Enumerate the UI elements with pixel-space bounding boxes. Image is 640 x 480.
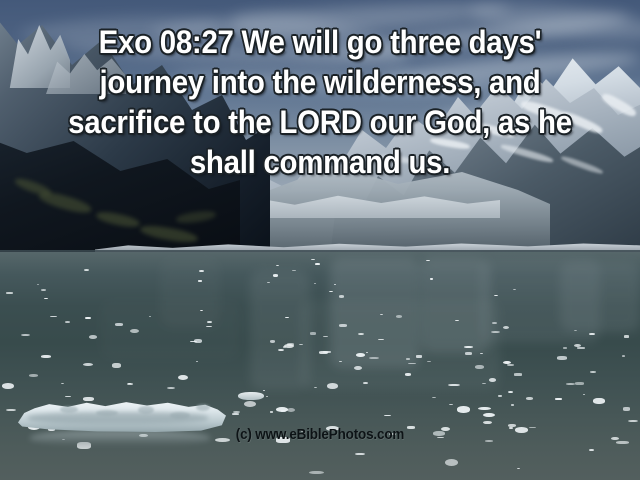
ice-chip <box>199 270 204 272</box>
ice-chip <box>489 378 496 381</box>
ice-chip <box>408 363 415 365</box>
ice-chip <box>406 358 411 360</box>
ice-chip <box>555 398 562 400</box>
watermark-label: (c) www.eBiblePhotos.com <box>32 426 608 443</box>
ice-chip <box>526 397 533 400</box>
ice-chip <box>511 404 515 406</box>
ice-chip <box>285 317 289 318</box>
ice-chip <box>315 263 320 265</box>
ice-chip <box>270 411 273 412</box>
ice-chip <box>339 324 346 327</box>
ice-chip <box>356 353 365 357</box>
ice-chip <box>445 459 459 466</box>
ice-chip <box>281 410 286 411</box>
ice-chip <box>314 387 317 388</box>
ice-chip <box>498 395 502 397</box>
ice-chip <box>287 408 295 412</box>
ice-chip <box>457 406 470 413</box>
ice-chip <box>327 383 338 389</box>
ice-chip <box>557 356 567 359</box>
ice-chip <box>233 411 239 413</box>
ice-chip <box>198 280 202 281</box>
ice-chip <box>563 347 567 349</box>
ice-chip <box>339 295 344 297</box>
ice-chip <box>430 278 433 280</box>
ice-chip <box>574 330 577 331</box>
ice-chip <box>593 398 604 404</box>
iceberg-pit <box>196 404 210 411</box>
water-reflection <box>300 300 500 390</box>
ice-chip <box>513 289 516 290</box>
ice-chip <box>623 407 630 411</box>
ice-chip <box>112 363 121 368</box>
iceberg-pit <box>138 406 154 414</box>
ice-chip <box>232 413 239 415</box>
iceberg-pit <box>60 406 78 413</box>
ice-chip <box>85 317 90 320</box>
ice-chip <box>622 355 626 357</box>
ice-chip <box>41 355 51 358</box>
ice-chip <box>589 449 594 452</box>
ice-chip <box>405 373 411 375</box>
ice-chip <box>465 352 472 355</box>
iceberg-pit <box>170 412 190 419</box>
ice-chip <box>37 284 40 285</box>
ice-chip <box>416 355 422 357</box>
water-reflection <box>560 262 640 332</box>
ice-chip <box>292 270 296 271</box>
water-reflection <box>100 300 240 360</box>
ice-chip <box>482 383 485 384</box>
ice-chip <box>311 259 315 261</box>
ice-chip <box>270 340 275 342</box>
ice-chip <box>483 421 492 424</box>
small-ice-floe <box>238 392 264 400</box>
ice-chip <box>29 374 38 377</box>
iceberg-pit <box>96 410 118 416</box>
ice-chip <box>310 332 316 335</box>
ice-chip <box>2 383 14 389</box>
ice-chip <box>358 333 364 335</box>
ice-chip <box>6 292 12 294</box>
ice-chip <box>299 344 303 346</box>
ice-chip <box>319 351 328 354</box>
ice-chip <box>89 335 98 339</box>
ice-chip <box>492 322 497 324</box>
ice-chip <box>616 441 630 444</box>
ice-chip <box>590 371 596 373</box>
ice-chip <box>278 349 284 351</box>
ice-chip <box>514 373 522 376</box>
ice-chip <box>475 365 484 369</box>
ice-chip <box>478 407 491 410</box>
ice-chip <box>194 339 202 343</box>
ice-chip <box>427 361 431 362</box>
ice-chip <box>21 334 30 336</box>
ice-chip <box>575 382 584 385</box>
ice-chip <box>41 289 47 291</box>
ice-chip <box>624 335 629 338</box>
ice-chip <box>396 315 402 318</box>
verse-photo-card: Exo 08:27 We will go three days' journey… <box>0 0 640 480</box>
water-reflection <box>250 270 310 390</box>
